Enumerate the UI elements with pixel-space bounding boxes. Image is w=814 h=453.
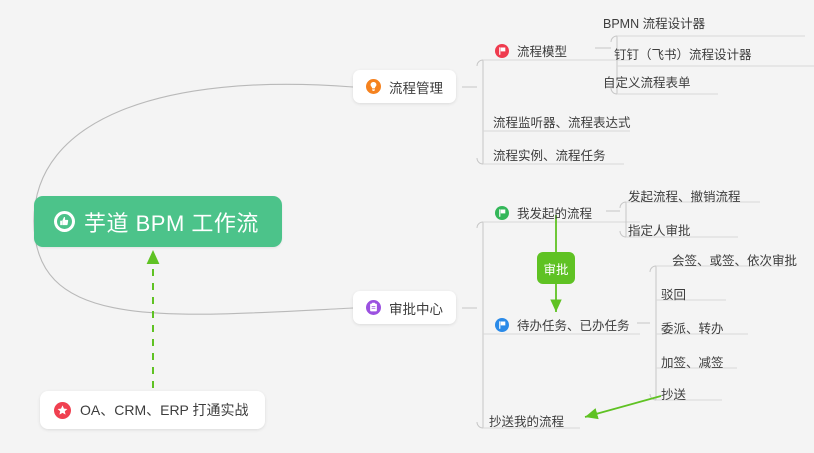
- leaf-dingtalk-designer[interactable]: 钉钉（飞书）流程设计器: [614, 44, 752, 68]
- leaf-process-instance[interactable]: 流程实例、流程任务: [493, 145, 606, 169]
- branch-process-management[interactable]: 流程管理: [353, 70, 456, 103]
- approval-badge: 审批: [537, 252, 575, 284]
- node-label: 我发起的流程: [517, 203, 592, 222]
- clipboard-icon: [366, 300, 381, 315]
- mindmap-canvas: 芋道 BPM 工作流 流程管理 流程模型 BPMN 流程设计器 钉钉（飞书）流程…: [0, 0, 814, 453]
- node-label: 流程模型: [517, 41, 567, 60]
- leaf-delegate-transfer[interactable]: 委派、转办: [661, 318, 724, 342]
- node-process-model[interactable]: 流程模型: [495, 41, 567, 60]
- arrow-cc-to-ccmine: [585, 396, 661, 417]
- approval-badge-label: 审批: [543, 259, 568, 278]
- root-label: 芋道 BPM 工作流: [84, 206, 259, 238]
- node-my-initiated[interactable]: 我发起的流程: [495, 203, 592, 222]
- branch-label: 流程管理: [389, 77, 443, 97]
- node-label: 待办任务、已办任务: [517, 315, 630, 334]
- leaf-cc-to-me[interactable]: 抄送我的流程: [489, 411, 564, 435]
- branch-label: 审批中心: [389, 298, 443, 318]
- branch-approval-center[interactable]: 审批中心: [353, 291, 456, 324]
- thumbs-up-icon: [54, 211, 75, 232]
- leaf-custom-form[interactable]: 自定义流程表单: [603, 72, 691, 96]
- flag-icon: [495, 44, 509, 58]
- leaf-start-cancel-process[interactable]: 发起流程、撤销流程: [628, 186, 741, 210]
- bottom-card-label: OA、CRM、ERP 打通实战: [80, 400, 249, 420]
- leaf-assignee-approval[interactable]: 指定人审批: [628, 220, 691, 244]
- bottom-card-oa-crm-erp[interactable]: OA、CRM、ERP 打通实战: [40, 391, 265, 429]
- leaf-add-remove-sign[interactable]: 加签、减签: [661, 352, 724, 376]
- lightbulb-icon: [366, 79, 381, 94]
- star-icon: [54, 402, 71, 419]
- flag-icon: [495, 206, 509, 220]
- node-todo-done-tasks[interactable]: 待办任务、已办任务: [495, 315, 630, 334]
- root-node[interactable]: 芋道 BPM 工作流: [34, 196, 282, 247]
- leaf-countersign[interactable]: 会签、或签、依次审批: [672, 250, 797, 274]
- flag-icon: [495, 318, 509, 332]
- leaf-process-listener[interactable]: 流程监听器、流程表达式: [493, 112, 631, 136]
- leaf-cc[interactable]: 抄送: [661, 384, 686, 408]
- leaf-reject[interactable]: 驳回: [661, 284, 686, 308]
- leaf-bpmn-designer[interactable]: BPMN 流程设计器: [603, 13, 705, 37]
